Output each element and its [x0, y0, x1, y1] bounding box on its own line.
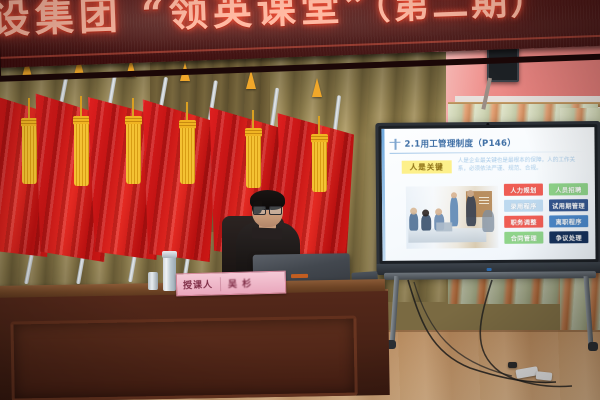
photo-person-seated-2	[421, 215, 431, 231]
photo-head-seated-3	[435, 208, 442, 215]
flag-tassel	[246, 136, 261, 188]
tea-thermos	[163, 255, 176, 291]
banner-suffix-text: （第二期）	[371, 0, 549, 28]
topic-box: 职务调整	[504, 216, 543, 228]
flag-spear-tip	[312, 78, 322, 97]
slide-photo	[406, 186, 499, 249]
banner-main-text: 设集团 “领英课堂”	[0, 0, 373, 43]
photo-head-seated-2	[422, 210, 429, 217]
display-stand-caster-right	[588, 342, 598, 351]
flag-tassel-cord	[318, 116, 320, 136]
topic-box: 录用程序	[504, 200, 543, 212]
flag-tassel	[312, 142, 327, 192]
topic-box: 人员招聘	[549, 183, 588, 195]
photo-head-standing-1	[451, 192, 457, 198]
presenter-collar	[252, 227, 282, 239]
slide-title-row: 2.1用工管理制度（P146）	[389, 135, 588, 151]
flag-spear-tip	[180, 62, 190, 81]
laptop-brand-logo-icon	[291, 274, 308, 278]
conference-room-scene: 2.1用工管理制度（P146） 人是关键 人是企业最关键也是最根本的保障，人的工…	[0, 0, 600, 400]
photo-head-standing-2	[467, 190, 474, 197]
flag-tassel-cord	[252, 110, 254, 130]
topic-box: 离职程序	[549, 215, 588, 227]
thermos-cap	[162, 251, 177, 258]
photo-head-seated-1	[410, 208, 417, 215]
slide-body-text: 人是企业最关键也是最根本的保障，人的工作关系，必须依法严谨、规范、合规。	[458, 157, 584, 173]
glasses-icon	[253, 206, 282, 213]
flag-tassel	[180, 128, 195, 184]
nameplate-name: 吴 杉	[228, 276, 252, 290]
flag-spear-tip	[246, 70, 256, 89]
event-banner-text: 设集团 “领英课堂”（第二期）	[0, 0, 600, 43]
flag-tassel	[22, 126, 37, 184]
topic-box-grid: 人力规划 人员招聘 录用程序 试用期管理 职务调整 离职程序 合同管理 争议处理	[504, 183, 589, 244]
cable-connector	[508, 362, 517, 368]
topic-box: 试用期管理	[549, 199, 588, 211]
balance-scale-icon	[389, 138, 400, 149]
presentation-display[interactable]: 2.1用工管理制度（P146） 人是关键 人是企业最关键也是最根本的保障，人的工…	[375, 121, 600, 275]
flag-tassel-cord	[132, 98, 134, 118]
photo-laptop	[436, 222, 452, 231]
metal-cup	[148, 272, 158, 290]
slide-content: 2.1用工管理制度（P146） 人是关键 人是企业最关键也是最根本的保障，人的工…	[381, 127, 595, 261]
power-led-icon	[487, 268, 492, 271]
glasses-lens-left	[253, 206, 266, 215]
nameplate-role-label: 授课人	[183, 277, 213, 291]
topic-box: 人力规划	[504, 184, 543, 196]
glasses-lens-right	[269, 206, 282, 215]
photo-person-standing-2	[466, 195, 476, 226]
flag-tassel-cord	[80, 96, 82, 118]
key-point-badge: 人是关键	[402, 160, 452, 173]
flag-tassel	[126, 124, 141, 184]
slide-title-underline	[390, 151, 586, 154]
slide-accent-bar	[381, 129, 385, 261]
photo-person-seated-1	[409, 213, 418, 231]
topic-box: 合同管理	[504, 232, 543, 244]
slide-title: 2.1用工管理制度（P146）	[404, 137, 516, 150]
presenter-nameplate: 授课人 吴 杉	[176, 271, 287, 297]
nameplate-divider	[220, 277, 221, 291]
power-plug	[536, 371, 553, 381]
flag-tassel-cord	[28, 98, 30, 120]
podium-front	[0, 291, 390, 400]
flag-tassel	[74, 124, 89, 186]
topic-box: 争议处理	[549, 231, 588, 243]
podium-front-panel	[10, 316, 357, 400]
photo-person-seated-4	[482, 210, 494, 232]
flag-tassel-cord	[186, 102, 188, 122]
